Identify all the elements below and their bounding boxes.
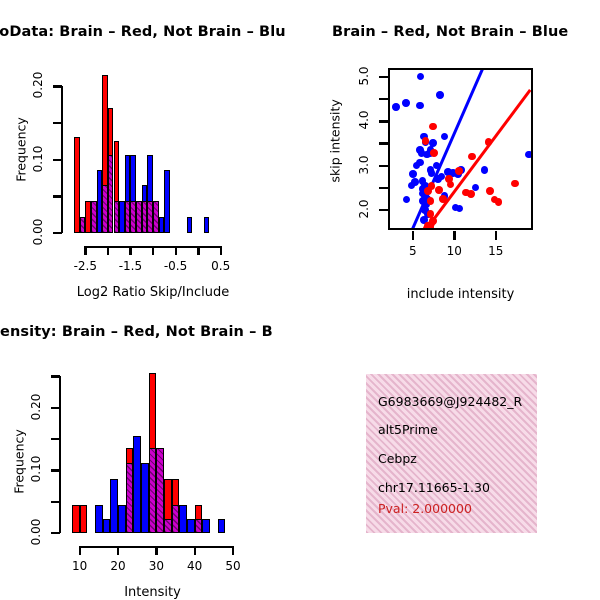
hist-bar-brain (72, 505, 80, 533)
pval: Pval: 2.000000 (378, 501, 472, 516)
scatter-point-not-brain (416, 102, 424, 110)
hist-bar-overlap (156, 448, 164, 533)
locus: chr17.11665-1.30 (378, 480, 490, 495)
hist-bar-not-brain (95, 505, 103, 533)
scatter-point-brain (467, 190, 475, 198)
y-tick-label: 0.20 (31, 63, 45, 107)
y-tick-label: 0.10 (29, 447, 43, 491)
y-tick (379, 98, 388, 100)
scatter-point-not-brain (428, 169, 436, 177)
x-tick (117, 546, 119, 555)
hist-bar-not-brain (202, 519, 210, 533)
y-tick (53, 159, 62, 161)
hist-bar-brain (80, 505, 88, 533)
annotation-box: G6983669@J924482_Ralt5PrimeCebpzchr17.11… (366, 374, 537, 533)
y-tick (51, 469, 60, 471)
gene-name: Cebpz (378, 451, 417, 466)
y-tick (53, 85, 62, 87)
hist-bar-not-brain (133, 436, 141, 533)
event-type: alt5Prime (378, 422, 438, 437)
intensity-hist-title: ne Itensity: Brain – Red, Not Brain – B (0, 324, 273, 340)
scatter-title: Brain – Red, Not Brain – Blue (332, 24, 568, 40)
y-tick-label: 0.20 (29, 385, 43, 429)
hist-bar-overlap (164, 519, 172, 533)
y-tick (51, 438, 60, 440)
scatter-point-brain (455, 167, 463, 175)
y-tick (51, 501, 60, 503)
y-tick-label: 5.0 (357, 54, 371, 98)
scatter-point-not-brain (441, 133, 449, 141)
x-tick (175, 246, 177, 255)
x-tick (220, 246, 222, 255)
scatter-point-brain (429, 217, 437, 225)
scatter-point-not-brain (417, 73, 425, 81)
y-tick (379, 187, 388, 189)
y-tick (379, 76, 388, 78)
y-tick (53, 195, 62, 197)
y-tick (379, 120, 388, 122)
scatter-point-not-brain (525, 151, 533, 159)
hist-bar-not-brain (218, 519, 226, 533)
scatter-point-brain (430, 149, 438, 157)
scatter-point-not-brain (481, 166, 489, 174)
scatter-point-brain (511, 180, 519, 188)
y-tick-label: 0.00 (29, 510, 43, 554)
y-tick (53, 232, 62, 234)
hist-bar-not-brain (103, 519, 111, 533)
hist-bar-not-brain (164, 170, 170, 233)
x-tick (84, 246, 86, 255)
scatter-point-brain (485, 138, 493, 146)
hist-bar-not-brain (179, 505, 187, 533)
hist-bar-overlap (172, 505, 180, 533)
scatter-point-brain (435, 186, 443, 194)
scatter-plot-area (388, 68, 533, 230)
y-tick (53, 122, 62, 124)
scatter-point-brain (427, 197, 435, 205)
probe-id: G6983669@J924482_R (378, 394, 522, 409)
y-tick (51, 532, 60, 534)
hist-bar-overlap (126, 463, 134, 533)
y-tick (379, 165, 388, 167)
scatter-y-label: skip intensity (328, 113, 343, 183)
hist-bar-overlap (195, 519, 203, 533)
ratio-hist-title: RatioData: Brain – Red, Not Brain – Blu (0, 24, 286, 40)
scatter-point-brain (429, 123, 437, 131)
scatter-point-not-brain (436, 91, 444, 99)
scatter-point-brain (486, 187, 494, 195)
x-tick-label: 10 (432, 244, 476, 258)
x-tick-label: 0.5 (199, 259, 243, 273)
scatter-point-brain (424, 187, 432, 195)
x-tick-label: -0.5 (154, 259, 198, 273)
scatter-point-brain (439, 195, 447, 203)
hist-bar-not-brain (118, 505, 126, 533)
scatter-point-not-brain (402, 99, 410, 107)
intensity-hist-y-axis (59, 376, 61, 533)
scatter-point-not-brain (456, 205, 464, 213)
x-tick-label: 15 (474, 244, 518, 258)
y-tick-label: 4.0 (357, 98, 371, 142)
hist-bar-overlap (149, 448, 157, 533)
hist-bar-not-brain (187, 217, 193, 233)
scatter-point-not-brain (409, 170, 417, 178)
x-tick (107, 246, 109, 255)
y-tick-label: 0.10 (31, 137, 45, 181)
x-tick-label: 50 (211, 559, 255, 573)
y-tick-label: 3.0 (357, 143, 371, 187)
hist-bar-not-brain (141, 463, 149, 533)
scatter-point-not-brain (403, 196, 411, 204)
scatter-point-not-brain (411, 178, 419, 186)
x-tick (152, 246, 154, 255)
intensity-hist-x-label: Intensity (32, 585, 273, 600)
x-tick (197, 246, 199, 255)
scatter-point-brain (447, 181, 455, 189)
figure-canvas: RatioData: Brain – Red, Not Brain – Blu0… (0, 0, 600, 600)
intensity-hist-y-label: Frequency (12, 426, 27, 496)
scatter-point-brain (468, 153, 476, 161)
ratio-hist-y-label: Frequency (14, 114, 29, 184)
x-tick (232, 546, 234, 555)
scatter-point-not-brain (413, 162, 421, 170)
x-tick (453, 231, 455, 240)
hist-bar-not-brain (110, 479, 118, 533)
scatter-point-not-brain (392, 103, 400, 111)
x-tick-label: -2.5 (63, 259, 107, 273)
hist-bar-not-brain (204, 217, 210, 233)
x-tick (194, 546, 196, 555)
y-tick (379, 209, 388, 211)
y-tick-label: 0.00 (31, 210, 45, 254)
x-tick-label: -1.5 (108, 259, 152, 273)
y-tick (379, 142, 388, 144)
scatter-point-brain (423, 225, 431, 230)
hist-bar-not-brain (187, 519, 195, 533)
x-tick (495, 231, 497, 240)
x-tick (129, 246, 131, 255)
x-tick-label: 5 (391, 244, 435, 258)
scatter-x-label: include intensity (328, 287, 593, 302)
ratio-hist-x-label: Log2 Ratio Skip/Include (34, 285, 272, 300)
x-tick (155, 546, 157, 555)
y-tick (51, 375, 60, 377)
x-tick (79, 546, 81, 555)
scatter-point-brain (495, 198, 503, 206)
x-tick (412, 231, 414, 240)
y-tick-label: 2.0 (357, 187, 371, 231)
y-tick (51, 407, 60, 409)
